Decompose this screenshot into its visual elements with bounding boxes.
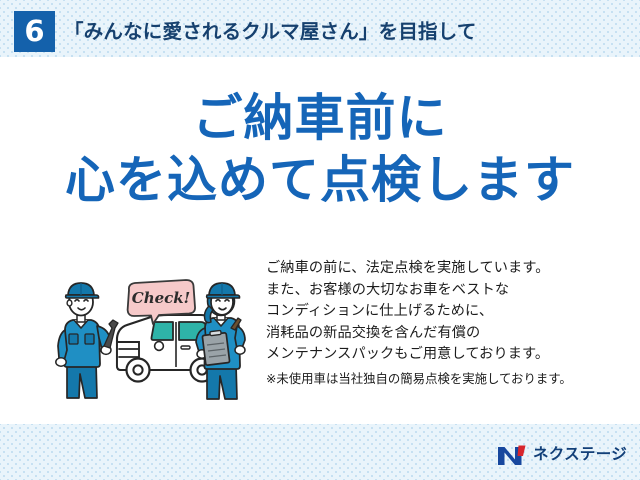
- body-copy: ご納車の前に、法定点検を実施しています。 また、お客様の大切なお車をベストな コ…: [266, 258, 626, 390]
- speech-bubble-label: Check!: [132, 289, 191, 307]
- headline-line-1: ご納車前に: [0, 88, 640, 148]
- body-copy-line: 消耗品の新品交換を含んだ有償の: [266, 323, 626, 345]
- nextage-n-logo-icon: [497, 444, 527, 466]
- promo-panel: 6 「みんなに愛されるクルマ屋さん」を目指して ご納車前に 心を込めて点検します…: [0, 0, 640, 480]
- body-copy-line: コンディションに仕上げるために、: [266, 301, 626, 323]
- headline-line-2: 心を込めて点検します: [0, 148, 640, 212]
- mechanics-inspecting-van-illustration: Check!: [55, 270, 260, 400]
- brand-logo: ネクステージ: [497, 442, 627, 468]
- body-copy-footnote: ※未使用車は当社独自の簡易点検を実施しております。: [266, 369, 626, 390]
- body-copy-line: ご納車の前に、法定点検を実施しています。: [266, 258, 626, 280]
- brand-logo-wordmark: ネクステージ: [533, 444, 627, 466]
- body-copy-line: また、お客様の大切なお車をベストな: [266, 280, 626, 302]
- header-title: 「みんなに愛されるクルマ屋さん」を目指して: [64, 16, 477, 48]
- section-number-badge: 6: [14, 11, 55, 52]
- page-headline: ご納車前に 心を込めて点検します: [0, 88, 640, 212]
- left-mechanic-figure: [56, 283, 118, 398]
- body-copy-line: メンテナンスパックもご用意しております。: [266, 344, 626, 366]
